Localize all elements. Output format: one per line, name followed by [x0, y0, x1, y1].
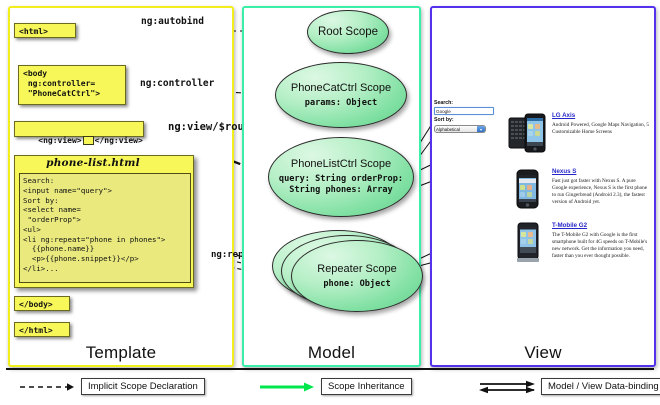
legend-item-data-binding: Model / View Data-binding — [478, 378, 660, 395]
search-input[interactable]: Google — [434, 107, 494, 115]
phone-text: LG Axis Android Powered, Google Maps Nav… — [552, 112, 652, 136]
scope-phonelistctrl: PhoneListCtrl Scope query: String orderP… — [268, 137, 414, 217]
legend: Implicit Scope Declaration Scope Inherit… — [0, 368, 660, 405]
scope-repeater-title: Repeater Scope — [317, 263, 397, 275]
scope-phonelistctrl-title: PhoneListCtrl Scope — [291, 158, 391, 170]
tag-body-close: </body> — [14, 296, 70, 311]
phone-snippet: Android Powered, Google Maps Navigation,… — [552, 122, 652, 136]
scope-phonecatctrl: PhoneCatCtrl Scope params: Object — [275, 62, 407, 128]
ng-view-slot-icon — [83, 136, 94, 145]
phone-name-link[interactable]: Nexus S — [552, 168, 652, 175]
panel-model-label: Model — [244, 343, 419, 363]
tag-ng-view-close: </ng:view> — [95, 136, 143, 145]
legend-item-scope-inheritance: Scope Inheritance — [258, 378, 412, 395]
scope-phonecatctrl-title: PhoneCatCtrl Scope — [291, 82, 391, 94]
dashed-arrow-icon — [18, 380, 76, 394]
sort-label: Sort by: — [434, 117, 496, 124]
tag-html-close: </html> — [14, 322, 70, 337]
phone-name-link[interactable]: LG Axis — [552, 112, 652, 119]
sort-select[interactable]: Alphabetical ▾ — [434, 125, 486, 133]
label-ng-controller: ng:controller — [140, 78, 214, 89]
legend-item-implicit-scope: Implicit Scope Declaration — [18, 378, 205, 395]
phone-text: Nexus S Fast just got faster with Nexus … — [552, 168, 652, 207]
scope-root-title: Root Scope — [318, 26, 378, 39]
callout-code: Search: <input name="query"> Sort by: <s… — [19, 173, 191, 283]
tag-body-open: <body ng:controller= "PhoneCatCtrl"> — [18, 65, 126, 105]
legend-label: Model / View Data-binding — [541, 378, 660, 395]
template-callout: phone-list.html Search: <input name="que… — [14, 155, 194, 288]
scope-phonecatctrl-props: params: Object — [305, 98, 377, 109]
tag-ng-view-open: <ng:view> — [38, 136, 81, 145]
legend-label: Scope Inheritance — [321, 378, 412, 395]
callout-title: phone-list.html — [14, 157, 172, 169]
phone-name-link[interactable]: T-Mobile G2 — [552, 222, 652, 229]
phone-thumbnail-icon — [508, 168, 546, 210]
double-arrow-icon — [478, 380, 536, 394]
green-arrow-icon — [258, 380, 316, 394]
panel-view-label: View — [432, 343, 654, 363]
chevron-down-icon: ▾ — [477, 126, 485, 132]
scope-phonelistctrl-props: query: String orderProp: String phones: … — [269, 174, 413, 195]
phone-snippet: The T-Mobile G2 with Google is the first… — [552, 232, 652, 260]
legend-divider — [6, 368, 654, 370]
scope-repeater-props: phone: Object — [323, 279, 390, 290]
view-search-form: Search: Google Sort by: Alphabetical ▾ — [434, 100, 496, 133]
legend-label: Implicit Scope Declaration — [81, 378, 205, 395]
phone-snippet: Fast just got faster with Nexus S. A pur… — [552, 178, 652, 206]
panel-template-label: Template — [10, 343, 232, 363]
scope-root: Root Scope — [307, 10, 389, 54]
label-ng-autobind: ng:autobind — [141, 16, 204, 27]
phone-text: T-Mobile G2 The T-Mobile G2 with Google … — [552, 222, 652, 261]
tag-ng-view: <ng:view></ng:view> — [14, 121, 144, 137]
phone-thumbnail-icon — [508, 112, 546, 154]
scope-repeater: Repeater Scope phone: Object — [291, 240, 423, 312]
sort-select-value: Alphabetical — [436, 127, 460, 132]
tag-html-open: <html> — [14, 23, 76, 38]
diagram-canvas: Template <html> <body ng:controller= "Ph… — [0, 0, 660, 405]
search-label: Search: — [434, 100, 496, 107]
phone-thumbnail-icon — [508, 222, 546, 264]
